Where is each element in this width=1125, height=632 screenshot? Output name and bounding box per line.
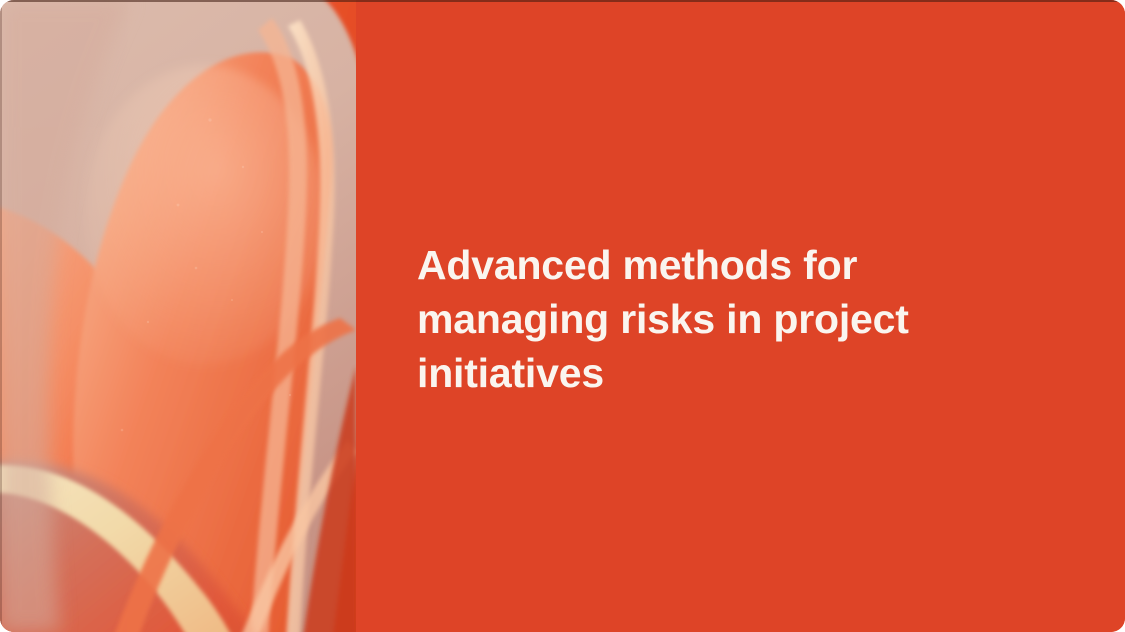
slide-title: Advanced methods for managing risks in p… bbox=[417, 238, 997, 400]
petal-photo-illustration bbox=[0, 0, 356, 632]
decorative-photo-panel bbox=[0, 0, 356, 632]
title-block: Advanced methods for managing risks in p… bbox=[417, 238, 997, 400]
presentation-slide: Advanced methods for managing risks in p… bbox=[0, 0, 1125, 632]
